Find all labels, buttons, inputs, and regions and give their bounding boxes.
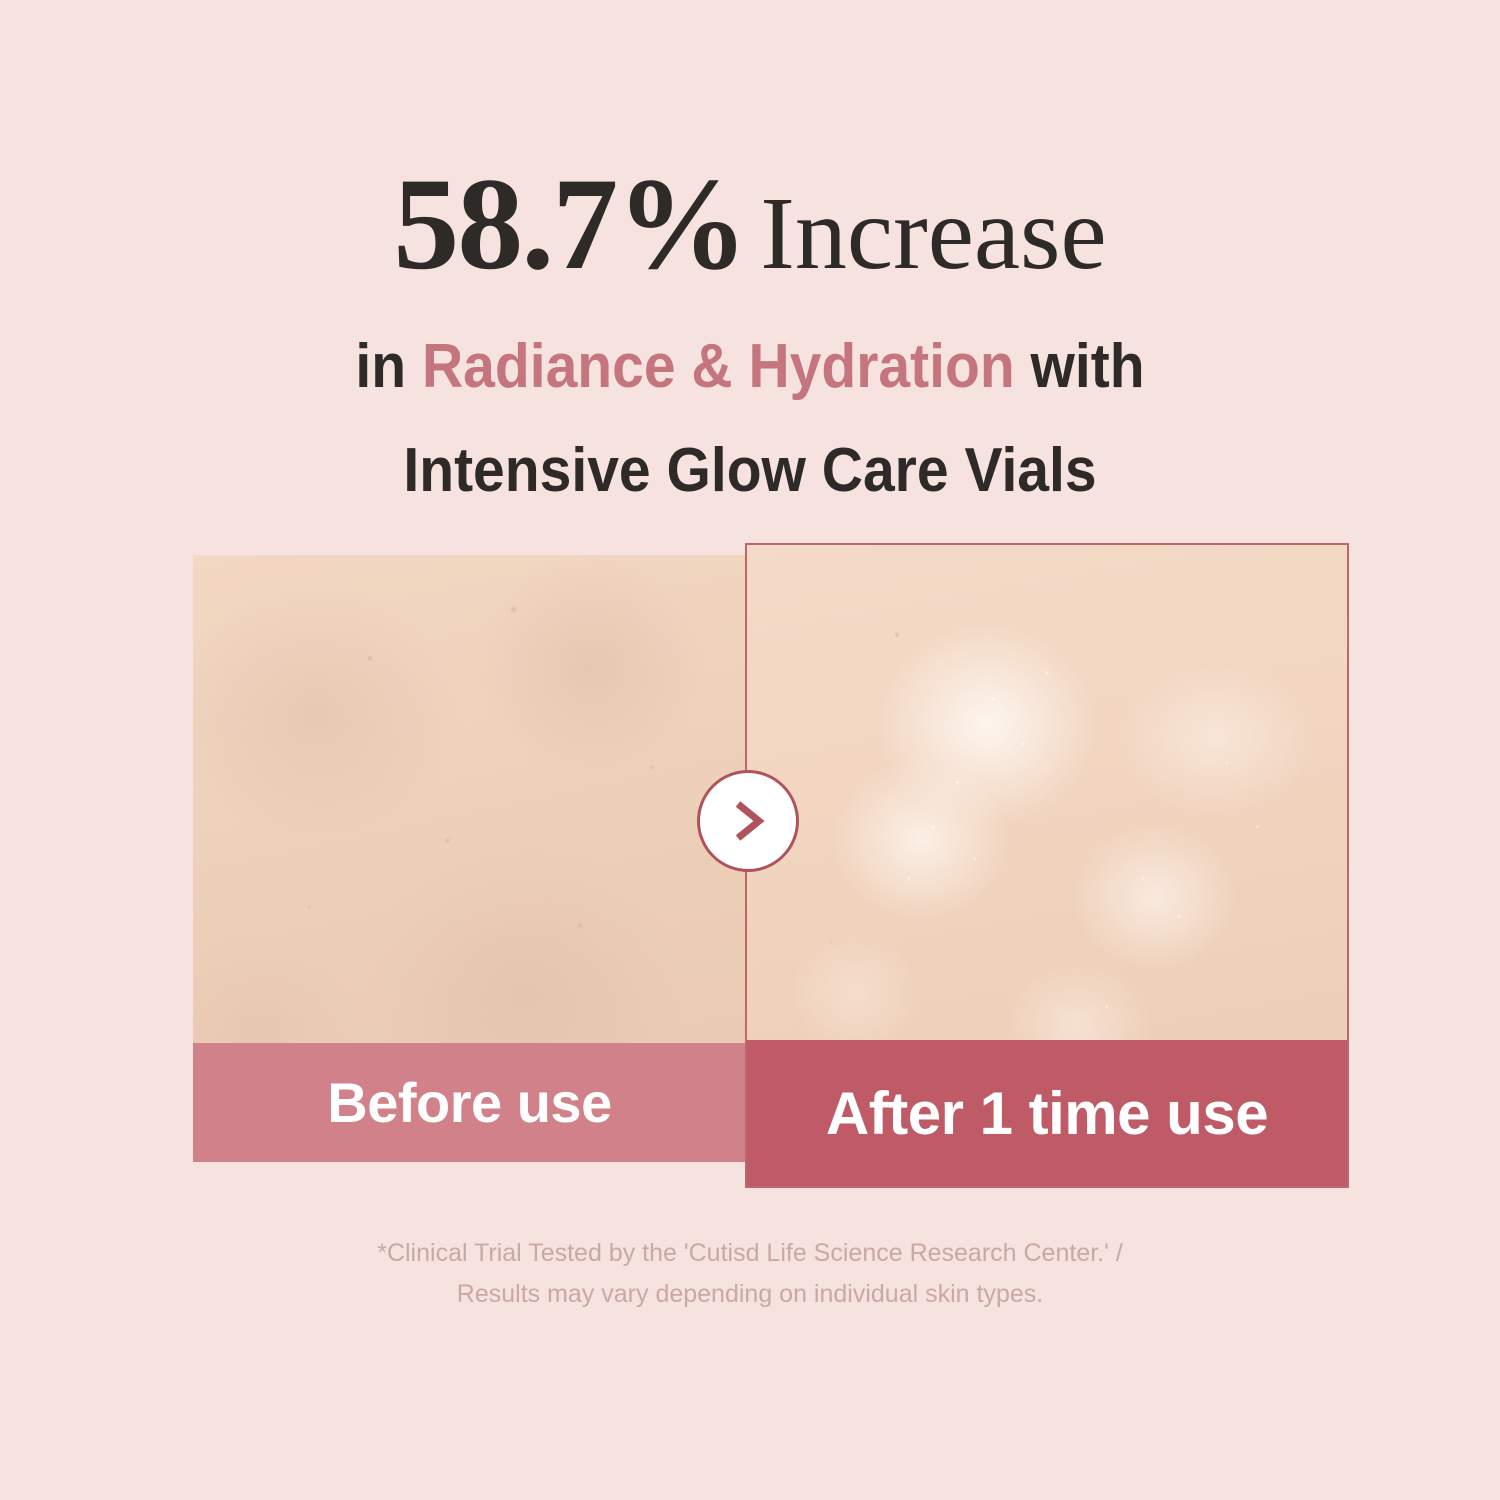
- headline-line2-prefix: in: [355, 332, 422, 401]
- chevron-right-icon: [697, 770, 799, 872]
- headline-line2-accent: Radiance & Hydration: [422, 332, 1015, 401]
- before-caption-bar: Before use: [193, 1043, 746, 1162]
- headline-percent: 58.7%: [393, 150, 746, 297]
- promo-canvas: 58.7%Increase in Radiance & Hydration wi…: [0, 0, 1500, 1500]
- headline-block: 58.7%Increase in Radiance & Hydration wi…: [0, 158, 1500, 502]
- footnote-line-2: Results may vary depending on individual…: [0, 1274, 1500, 1315]
- after-caption-bar: After 1 time use: [747, 1040, 1347, 1186]
- headline-line-2: in Radiance & Hydration with: [60, 336, 1440, 398]
- before-caption-label: Before use: [327, 1070, 611, 1135]
- footnote: *Clinical Trial Tested by the 'Cutisd Li…: [0, 1233, 1500, 1314]
- headline-line-1: 58.7%Increase: [0, 158, 1500, 290]
- footnote-line-1: *Clinical Trial Tested by the 'Cutisd Li…: [0, 1233, 1500, 1274]
- headline-increase-word: Increase: [760, 176, 1106, 291]
- after-caption-label: After 1 time use: [826, 1079, 1268, 1148]
- headline-line-3: Intensive Glow Care Vials: [60, 440, 1440, 502]
- before-panel: Before use: [193, 555, 746, 1162]
- headline-line2-suffix: with: [1015, 332, 1145, 401]
- after-panel: After 1 time use: [745, 543, 1349, 1188]
